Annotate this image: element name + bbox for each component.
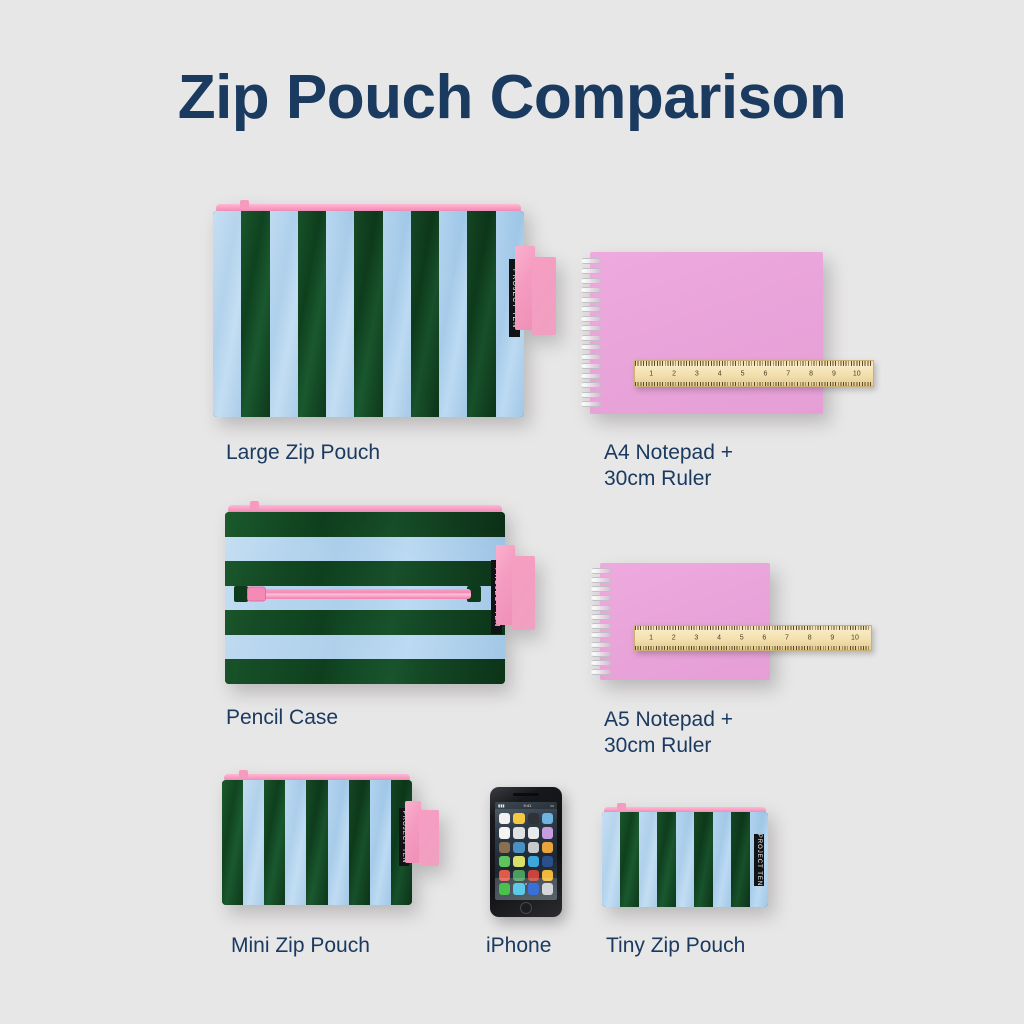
app-icon[interactable] <box>499 856 510 867</box>
pouch-mini: PROJECT TEN <box>222 780 412 905</box>
pouch-tiny: PROJECT TEN <box>602 812 768 907</box>
zip-end-left <box>234 586 248 602</box>
caption-large-zip-pouch: Large Zip Pouch <box>226 440 486 466</box>
notepad-body <box>590 252 823 414</box>
app-icon[interactable] <box>528 856 539 867</box>
pull-tab-fold <box>512 556 535 630</box>
caption-pencil-case: Pencil Case <box>226 705 486 731</box>
pouch-pencil-case: PROJECT TEN <box>225 512 505 684</box>
ruler-numbers: 1 2 3 4 5 6 7 8 9 10 <box>635 370 873 377</box>
ruler-ticks-bottom <box>635 378 873 387</box>
caption-tiny-zip-pouch: Tiny Zip Pouch <box>606 933 826 959</box>
ruler-a5-row[interactable]: 1 2 3 4 5 6 7 8 9 10 <box>634 625 872 651</box>
dock-icon-safari[interactable] <box>542 883 553 894</box>
notepad-body <box>600 563 770 680</box>
pouch-body <box>222 780 412 905</box>
infographic-canvas: Zip Pouch Comparison PROJECT TEN Large Z… <box>0 0 1024 1024</box>
product-a4-notepad[interactable] <box>590 252 823 414</box>
app-icon[interactable] <box>542 813 553 824</box>
product-tiny-zip-pouch[interactable]: PROJECT TEN <box>602 812 768 907</box>
app-grid[interactable] <box>495 809 557 881</box>
pouch-body <box>602 812 768 907</box>
stripes-vertical <box>222 780 412 905</box>
status-bar: ▮▮▮ 9:41 ▭ <box>495 802 557 809</box>
app-icon[interactable] <box>528 827 539 838</box>
battery-icon: ▭ <box>550 803 554 808</box>
app-icon[interactable] <box>499 813 510 824</box>
ruler-ticks-top <box>635 626 871 634</box>
app-icon[interactable] <box>513 827 524 838</box>
product-iphone[interactable]: ▮▮▮ 9:41 ▭ <box>490 787 562 917</box>
caption-iphone: iPhone <box>486 933 606 959</box>
pull-tab-fold <box>419 810 439 866</box>
ruler-a4-row[interactable]: 1 2 3 4 5 6 7 8 9 10 <box>634 360 874 387</box>
pull-tab-fold <box>532 257 556 335</box>
caption-mini-zip-pouch: Mini Zip Pouch <box>231 933 451 959</box>
pouch-large: PROJECT TEN <box>213 211 524 417</box>
app-icon[interactable] <box>513 856 524 867</box>
product-mini-zip-pouch[interactable]: PROJECT TEN <box>222 780 412 905</box>
dock-icon-mail[interactable] <box>528 883 539 894</box>
dock-icon-phone[interactable] <box>499 883 510 894</box>
ruler-numbers: 1 2 3 4 5 6 7 8 9 10 <box>635 635 871 642</box>
earpiece-icon <box>513 793 539 796</box>
status-time: 9:41 <box>524 803 532 808</box>
app-icon[interactable] <box>542 842 553 853</box>
product-pencil-case[interactable]: PROJECT TEN <box>225 512 505 684</box>
app-icon[interactable] <box>528 813 539 824</box>
phone-dock[interactable] <box>495 878 557 900</box>
ruler-ticks-top <box>635 361 873 370</box>
pouch-body <box>213 211 524 417</box>
product-large-zip-pouch[interactable]: PROJECT TEN <box>213 211 524 417</box>
spiral-binding <box>581 258 601 407</box>
app-icon[interactable] <box>528 842 539 853</box>
brand-label: PROJECT TEN <box>754 834 764 886</box>
app-icon[interactable] <box>513 842 524 853</box>
brand-label-text: PROJECT TEN <box>756 834 762 886</box>
front-zipper[interactable] <box>257 589 471 599</box>
carrier-label: ▮▮▮ <box>498 803 505 808</box>
app-icon[interactable] <box>513 813 524 824</box>
caption-a5-notepad-ruler: A5 Notepad + 30cm Ruler <box>604 707 864 759</box>
spiral-binding <box>591 568 611 676</box>
app-icon[interactable] <box>499 842 510 853</box>
product-a5-notepad[interactable] <box>600 563 770 680</box>
app-icon[interactable] <box>499 827 510 838</box>
phone-screen[interactable]: ▮▮▮ 9:41 ▭ <box>495 802 557 900</box>
stripes-vertical <box>602 812 768 907</box>
app-icon[interactable] <box>542 856 553 867</box>
home-button[interactable] <box>520 902 532 914</box>
ruler-ticks-bottom <box>635 642 871 650</box>
page-title: Zip Pouch Comparison <box>0 62 1024 133</box>
dock-icon-messages[interactable] <box>513 883 524 894</box>
stripes-vertical <box>213 211 524 417</box>
caption-a4-notepad-ruler: A4 Notepad + 30cm Ruler <box>604 440 864 492</box>
app-icon[interactable] <box>542 827 553 838</box>
